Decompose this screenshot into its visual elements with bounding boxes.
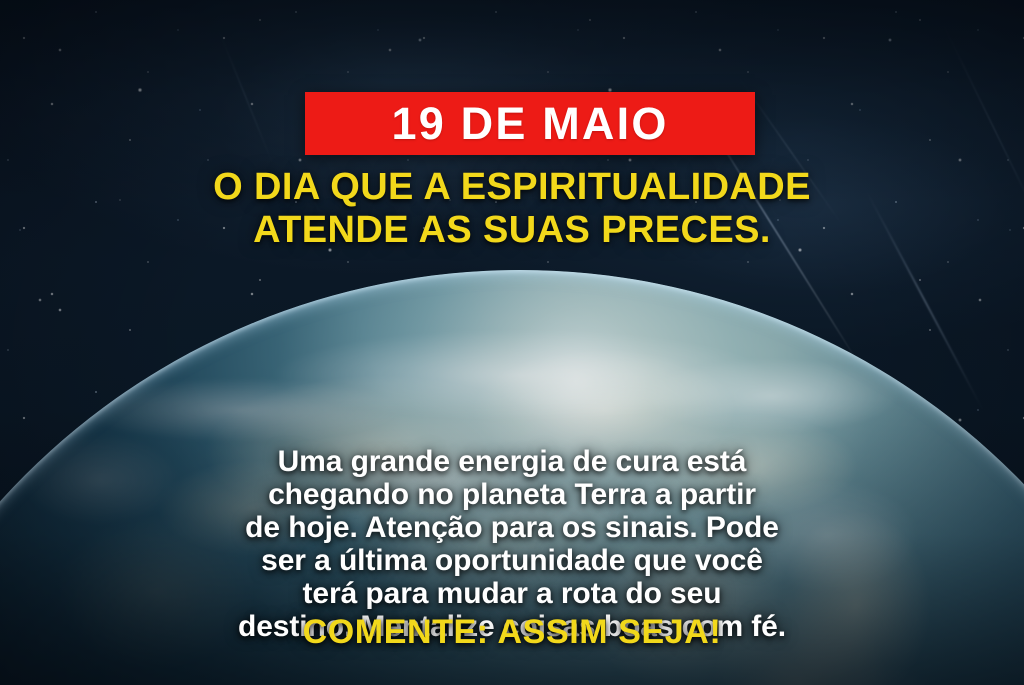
body-line-4: ser a última oportunidade que você xyxy=(0,544,1024,577)
body-line-1: Uma grande energia de cura está xyxy=(0,445,1024,478)
headline: O DIA QUE A ESPIRITUALIDADE ATENDE AS SU… xyxy=(0,166,1024,253)
poster-content: 19 DE MAIO O DIA QUE A ESPIRITUALIDADE A… xyxy=(0,0,1024,685)
headline-line-1: O DIA QUE A ESPIRITUALIDADE xyxy=(0,166,1024,209)
poster-image: 19 DE MAIO O DIA QUE A ESPIRITUALIDADE A… xyxy=(0,0,1024,685)
body-line-3: de hoje. Atenção para os sinais. Pode xyxy=(0,511,1024,544)
date-banner-label: 19 DE MAIO xyxy=(391,101,668,146)
headline-line-2: ATENDE AS SUAS PRECES. xyxy=(0,209,1024,252)
body-line-5: terá para mudar a rota do seu xyxy=(0,577,1024,610)
date-banner: 19 DE MAIO xyxy=(305,92,755,155)
call-to-action-text: COMENTE: ASSIM SEJA! xyxy=(0,614,1024,651)
body-line-2: chegando no planeta Terra a partir xyxy=(0,478,1024,511)
